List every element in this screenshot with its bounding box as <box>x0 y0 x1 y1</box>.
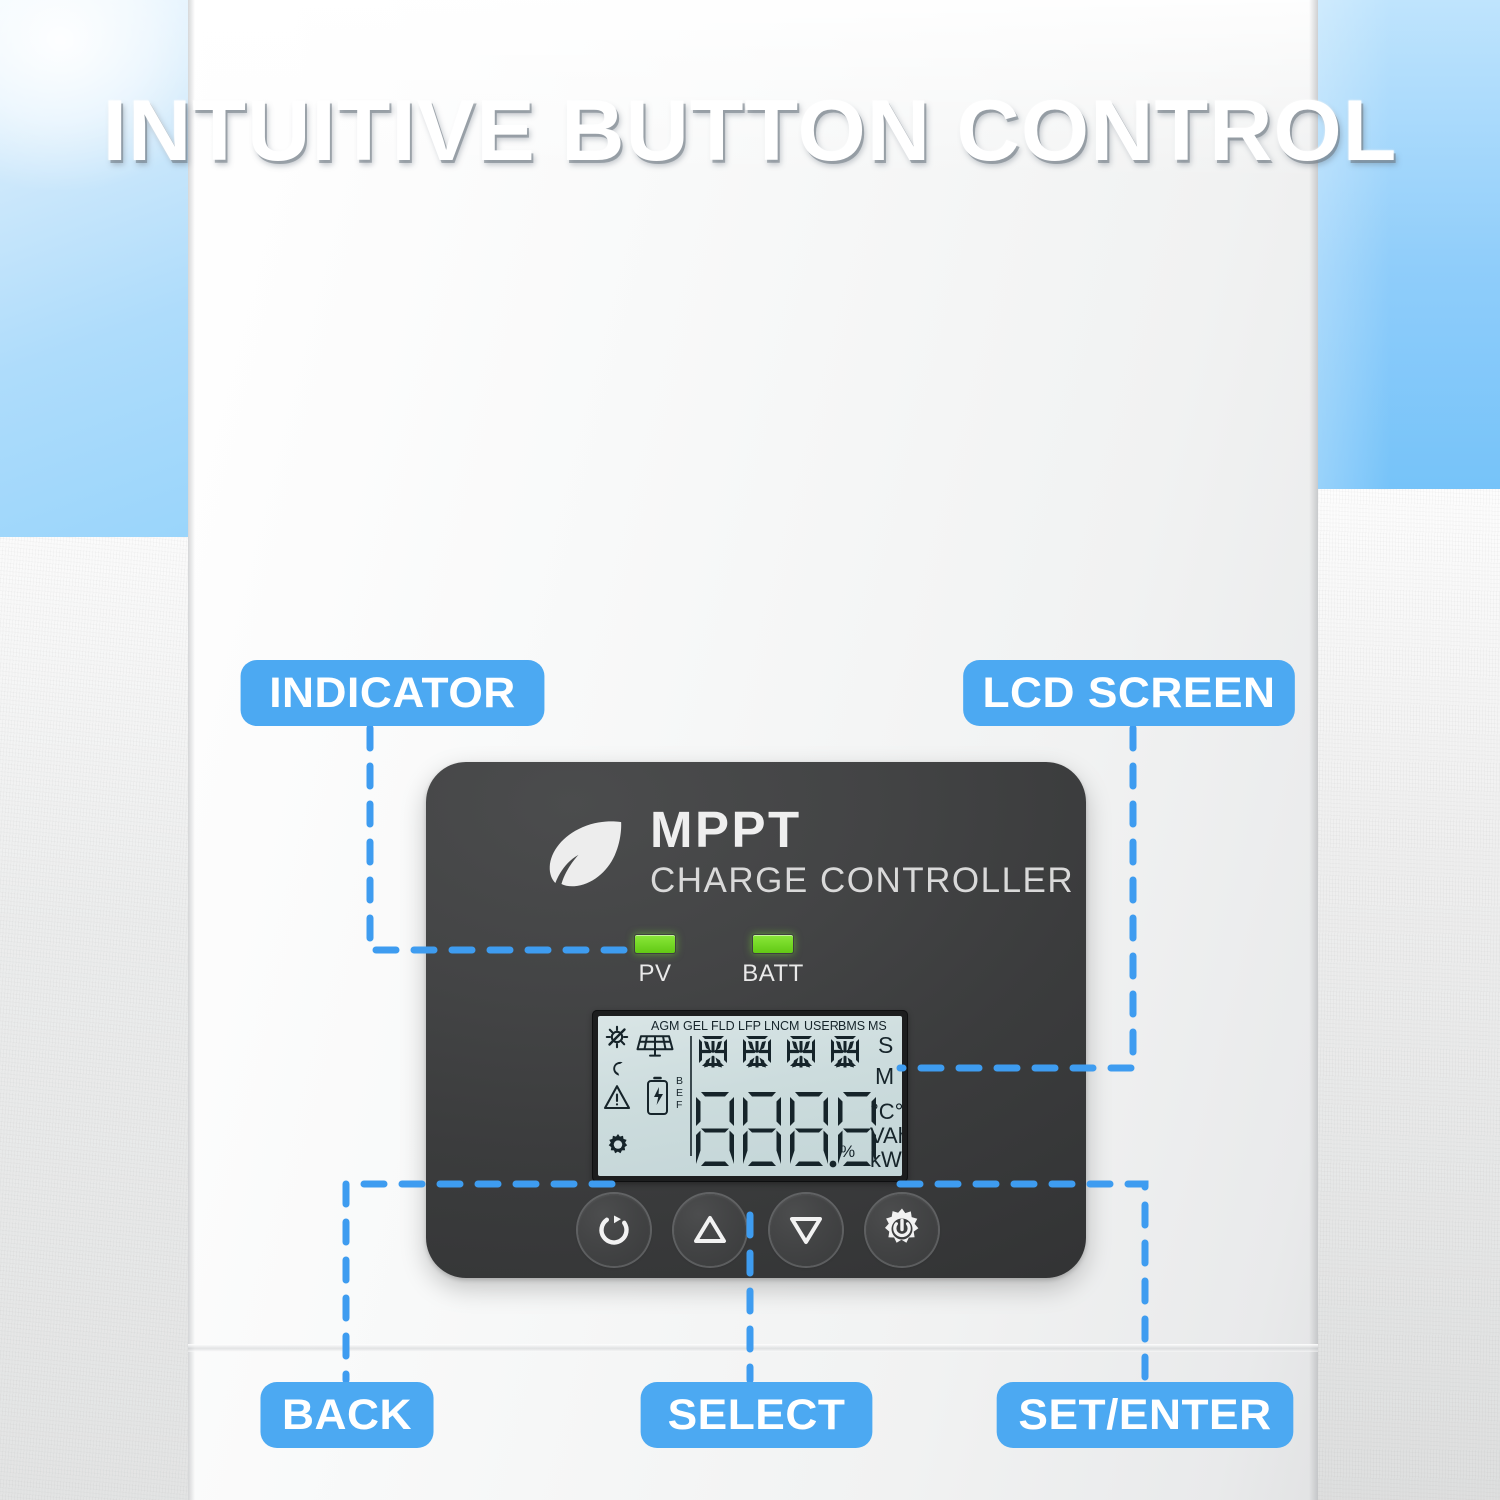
warning-triangle-icon <box>605 1086 629 1108</box>
lcd-unit-m: M <box>875 1063 894 1089</box>
lcd-unit-cf: °C°F <box>870 1099 902 1124</box>
up-button[interactable] <box>674 1194 746 1266</box>
lcd-batt-type-lncm: LNCM <box>764 1019 799 1033</box>
lcd-batt-type-fld: FLD <box>711 1019 735 1033</box>
lcd-batt-type-lfp: LFP <box>738 1019 761 1033</box>
callout-badge-set-enter[interactable]: SET/ENTER <box>997 1382 1294 1448</box>
lcd-digit-1 <box>696 1092 734 1166</box>
lcd-batt-type-user: USER <box>804 1019 839 1033</box>
lcd-battery-type-row: AGM GEL FLD LFP LNCM USER BMS MS <box>651 1019 887 1033</box>
callout-badge-select[interactable]: SELECT <box>641 1382 873 1448</box>
page-title: INTUITIVE BUTTON CONTROL <box>0 82 1500 181</box>
lcd-digit-3 <box>790 1092 828 1166</box>
lcd-batt-type-bms: BMS <box>838 1019 865 1033</box>
lcd-stage-letters: B E F <box>676 1075 683 1111</box>
refresh-back-icon <box>592 1208 636 1252</box>
batt-led-lamp <box>752 934 794 954</box>
lcd-unit-vah: VAh <box>870 1123 902 1148</box>
sky-background-right <box>1318 0 1500 489</box>
control-panel: MPPT CHARGE CONTROLLER PV BATT AGM <box>426 762 1086 1278</box>
wall-texture-left <box>0 537 188 1500</box>
lcd-unit-s: S <box>878 1032 893 1058</box>
batt-led-label: BATT <box>740 960 806 988</box>
led-indicator-group: PV BATT <box>622 934 842 1000</box>
leaf-icon <box>542 810 628 896</box>
brand-logo-row: MPPT CHARGE CONTROLLER <box>542 798 1042 908</box>
pv-led-label: PV <box>622 960 688 988</box>
led-indicator-batt: BATT <box>740 934 806 988</box>
led-indicator-pv: PV <box>622 934 688 988</box>
brand-subtitle: CHARGE CONTROLLER <box>650 859 1074 903</box>
lcd-numeric-row: % <box>696 1092 876 1167</box>
lcd-alpha-row <box>699 1036 859 1068</box>
lcd-digit-2 <box>743 1092 781 1166</box>
callout-badge-back[interactable]: BACK <box>260 1382 433 1448</box>
gear-power-icon <box>879 1207 925 1253</box>
sky-background-left <box>0 0 188 537</box>
brand-text: MPPT CHARGE CONTROLLER <box>650 804 1074 903</box>
wall-texture-right <box>1318 489 1500 1500</box>
lcd-stage-b: B <box>676 1075 683 1087</box>
lcd-stage-f: F <box>676 1099 682 1111</box>
lcd-stage-e: E <box>676 1087 683 1099</box>
lcd-percent-symbol: % <box>840 1142 855 1161</box>
lcd-batt-type-agm: AGM <box>651 1019 679 1033</box>
lcd-batt-type-ms: MS <box>868 1019 887 1033</box>
brand-name: MPPT <box>650 804 1074 855</box>
enclosure-seam-line <box>188 1344 1318 1352</box>
enclosure-right-edge <box>1309 0 1318 1500</box>
moon-icon <box>613 1062 622 1076</box>
lcd-unit-kwh: kWh <box>870 1147 902 1172</box>
gear-icon <box>609 1134 628 1153</box>
button-row <box>578 1194 938 1266</box>
triangle-down-icon <box>784 1208 828 1252</box>
callout-badge-lcd-screen[interactable]: LCD SCREEN <box>963 660 1295 726</box>
solar-panel-icon <box>638 1036 673 1055</box>
lcd-screen: AGM GEL FLD LFP LNCM USER BMS MS <box>598 1016 902 1176</box>
scene: INTUITIVE BUTTON CONTROL MPPT CHARGE <box>0 0 1500 1500</box>
lcd-screen-bezel: AGM GEL FLD LFP LNCM USER BMS MS <box>592 1010 908 1182</box>
back-button[interactable] <box>578 1194 650 1266</box>
sun-disabled-icon <box>607 1027 627 1047</box>
set-enter-button[interactable] <box>866 1194 938 1266</box>
down-button[interactable] <box>770 1194 842 1266</box>
lcd-decimal-point <box>830 1161 837 1168</box>
enclosure-left-edge <box>188 0 195 1500</box>
lcd-unit-column: S M °C°F VAh kWh <box>870 1032 902 1172</box>
lcd-batt-type-gel: GEL <box>683 1019 708 1033</box>
battery-charging-icon <box>648 1078 667 1114</box>
pv-led-lamp <box>634 934 676 954</box>
triangle-up-icon <box>688 1208 732 1252</box>
callout-badge-indicator[interactable]: INDICATOR <box>241 660 545 726</box>
lcd-content: AGM GEL FLD LFP LNCM USER BMS MS <box>598 1016 902 1176</box>
